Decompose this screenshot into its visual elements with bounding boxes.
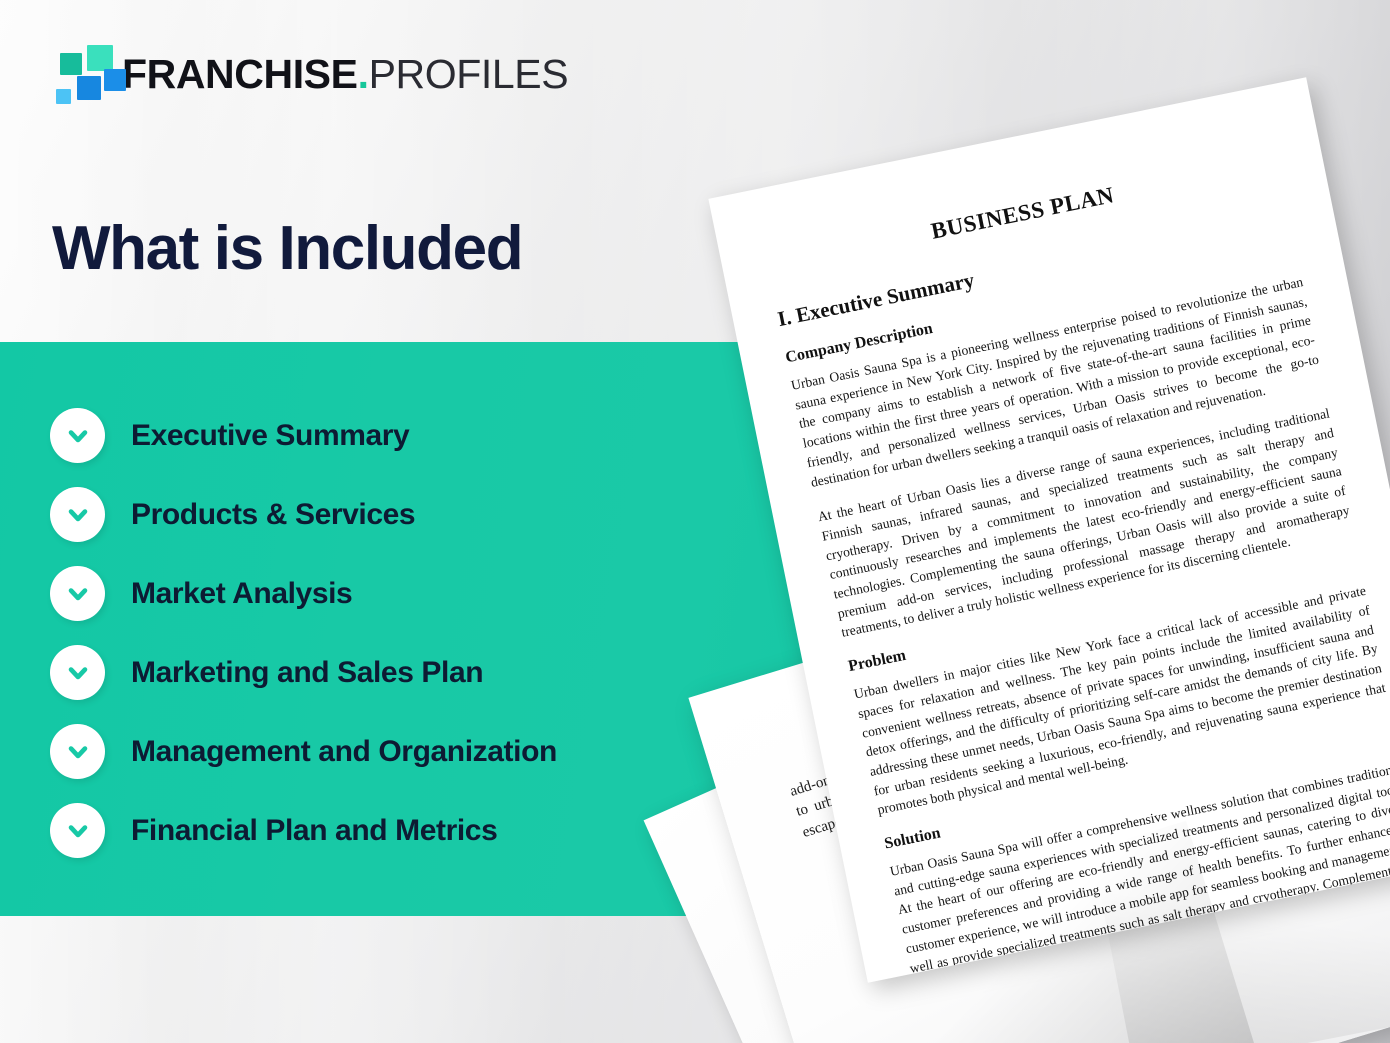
- list-item[interactable]: Management and Organization: [50, 712, 750, 791]
- list-item-label: Executive Summary: [131, 419, 409, 453]
- logo-square-sky: [56, 89, 71, 104]
- slide-canvas: FRANCHISE.PROFILES What is Included Exec…: [0, 0, 1390, 1043]
- list-item-label: Marketing and Sales Plan: [131, 656, 483, 690]
- chevron-down-icon: [50, 408, 105, 463]
- logo-square-teal-dark: [60, 53, 82, 75]
- chevron-down-icon: [50, 645, 105, 700]
- chevron-down-icon: [50, 724, 105, 779]
- logo-square-blue: [77, 76, 101, 100]
- list-item-label: Financial Plan and Metrics: [131, 814, 497, 848]
- brand-logo[interactable]: FRANCHISE.PROFILES: [46, 42, 568, 106]
- included-sections-list: Executive Summary Products & Services Ma…: [50, 396, 750, 870]
- list-item[interactable]: Financial Plan and Metrics: [50, 791, 750, 870]
- list-item[interactable]: Products & Services: [50, 475, 750, 554]
- brand-name-bold: FRANCHISE: [122, 51, 358, 97]
- brand-name-light: PROFILES: [369, 51, 569, 97]
- list-item[interactable]: Market Analysis: [50, 554, 750, 633]
- chevron-down-icon: [50, 487, 105, 542]
- page-title: What is Included: [52, 214, 522, 283]
- document-stack: add-on services, Urban Oasis Sauna Spa w…: [690, 120, 1390, 1043]
- list-item-label: Products & Services: [131, 498, 415, 532]
- squares-mosaic-icon: [46, 45, 106, 103]
- list-item-label: Management and Organization: [131, 735, 557, 769]
- chevron-down-icon: [50, 566, 105, 621]
- list-item[interactable]: Executive Summary: [50, 396, 750, 475]
- logo-square-teal-light: [87, 45, 113, 71]
- brand-name-dot: .: [358, 51, 369, 97]
- list-item[interactable]: Marketing and Sales Plan: [50, 633, 750, 712]
- list-item-label: Market Analysis: [131, 577, 352, 611]
- chevron-down-icon: [50, 803, 105, 858]
- logo-square-blue-light: [104, 69, 126, 91]
- brand-wordmark: FRANCHISE.PROFILES: [122, 54, 568, 95]
